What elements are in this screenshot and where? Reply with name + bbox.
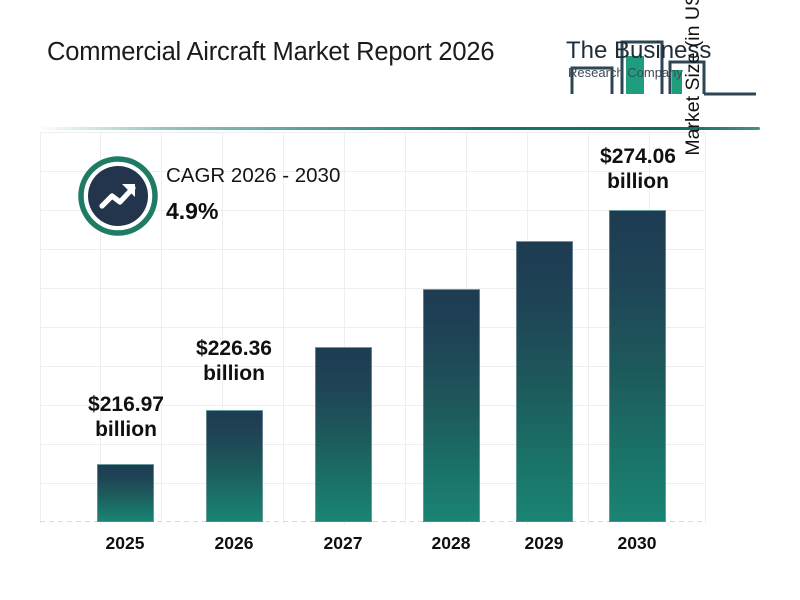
x-axis-label-2027: 2027	[288, 533, 398, 554]
value-label-2025-line1: $216.97	[70, 392, 182, 417]
value-label-2030: $274.06 billion	[582, 144, 694, 194]
gridline-horizontal	[40, 249, 706, 250]
y-axis-title: Market Size (in USD Billion)	[682, 0, 705, 156]
gridline-horizontal	[40, 132, 706, 133]
bar-2029[interactable]	[516, 241, 573, 522]
gridline-horizontal	[40, 288, 706, 289]
value-label-2030-line2: billion	[582, 169, 694, 194]
x-axis-label-2025: 2025	[70, 533, 180, 554]
bar-2030[interactable]	[609, 210, 666, 522]
gridline-vertical	[40, 132, 41, 524]
the-business-research-company-logo: The Business Research Company	[566, 28, 762, 100]
chart-header: Commercial Aircraft Market Report 2026 T…	[0, 0, 800, 118]
logo-text-line2: Research Company	[568, 65, 683, 80]
cagr-callout: CAGR 2026 - 2030 4.9%	[78, 156, 398, 242]
cagr-range-label: CAGR 2026 - 2030	[166, 164, 340, 188]
cagr-text-block: CAGR 2026 - 2030 4.9%	[166, 164, 340, 225]
gridline-vertical	[405, 132, 406, 524]
bar-2027[interactable]	[315, 347, 372, 522]
value-label-2025: $216.97 billion	[70, 392, 182, 442]
gridline-horizontal	[40, 366, 706, 367]
y-axis-title-wrapper: Market Size (in USD Billion)	[682, 0, 712, 215]
x-axis-label-2030: 2030	[582, 533, 692, 554]
value-label-2026-line1: $226.36	[178, 336, 290, 361]
value-label-2030-line1: $274.06	[582, 144, 694, 169]
cagr-value: 4.9%	[166, 198, 340, 225]
gridline-horizontal	[40, 444, 706, 445]
bar-2026[interactable]	[206, 410, 263, 522]
bar-2028[interactable]	[423, 289, 480, 522]
header-divider	[38, 127, 760, 130]
x-axis-label-2026: 2026	[179, 533, 289, 554]
bar-2025[interactable]	[97, 464, 154, 522]
gridline-horizontal	[40, 327, 706, 328]
value-label-2025-line2: billion	[70, 417, 182, 442]
page-title: Commercial Aircraft Market Report 2026	[47, 38, 494, 67]
chart-page: Commercial Aircraft Market Report 2026 T…	[0, 0, 800, 600]
trending-up-icon	[78, 156, 158, 236]
value-label-2026-line2: billion	[178, 361, 290, 386]
value-label-2026: $226.36 billion	[178, 336, 290, 386]
